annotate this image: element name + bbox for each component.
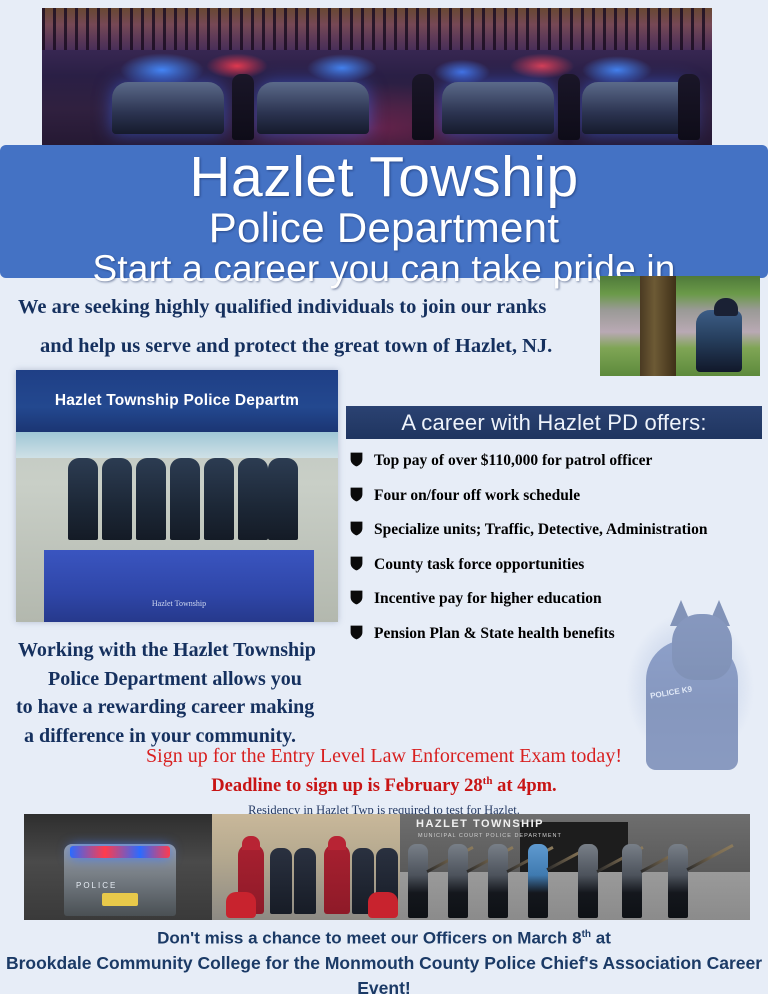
footer-line-2: Brookdale Community College for the Monm… [0,951,768,994]
deadline-text-before: Deadline to sign up is February 28 [211,776,482,796]
helmet-shape [714,298,738,316]
footer-line-1-after: at [591,929,611,948]
honor-guard-6 [622,844,642,918]
building-sign-text: HAZLET TOWNSHIP [416,818,544,830]
footer-event-details: Don't miss a chance to meet our Officers… [0,922,768,994]
treeline-decoration [42,8,712,50]
benefits-heading: A career with Hazlet PD offers: [401,410,706,436]
cruiser-photo-panel: POLICE [24,814,212,920]
honor-guard-7 [668,844,688,918]
officer-silhouette-4 [678,74,700,140]
santa-toy-drive-panel [212,814,400,920]
footer-line-1: Don't miss a chance to meet our Officers… [0,922,768,951]
table-banner-text: Hazlet Township [44,599,314,608]
page-subtitle: Police Department [0,207,768,249]
honor-guard-4 [528,844,548,918]
officer-figure-1 [270,848,292,914]
recruitment-flyer: Hazlet Towship Police Department Start a… [0,0,768,994]
benefits-header-bar: A career with Hazlet PD offers: [346,406,762,439]
toy-bag-1 [226,892,256,918]
tent-underside [16,432,338,458]
honor-guard-5 [578,844,598,918]
footer-line-1-before: Don't miss a chance to meet our Officers… [157,929,581,948]
honor-guard-panel: HAZLET TOWNSHIP MUNICIPAL COURT POLICE D… [400,814,750,920]
police-cruiser-3 [442,82,554,134]
deadline-text: Deadline to sign up is February 28th at … [0,769,768,798]
santa-hat-2 [328,836,346,850]
shield-icon [350,487,363,502]
list-item: Top pay of over $110,000 for patrol offi… [350,450,768,470]
k9-head [672,614,732,680]
community-tent-photo: Hazlet Township Police Departm Hazlet To… [16,370,338,622]
shield-icon [350,521,363,536]
officer-silhouette-2 [412,74,434,140]
intro-line-1: We are seeking highly qualified individu… [14,288,634,327]
tent-officers-row [68,458,298,540]
shield-icon [350,556,363,571]
honor-guard-2 [448,844,468,918]
list-item: Four on/four off work schedule [350,485,768,505]
footer-date-ordinal: th [582,929,591,940]
working-paragraph: Working with the Hazlet Township Police … [10,636,390,750]
top-banner-photo [42,8,712,148]
toy-bag-2 [368,892,398,918]
deadline-text-after: at 4pm. [492,776,556,796]
display-table: Hazlet Township [44,550,314,622]
honor-guard-1 [408,844,428,918]
benefit-text: Four on/four off work schedule [374,487,580,505]
santa-figure-2 [324,844,350,914]
emergency-lightbar [70,846,170,858]
intro-line-2: and help us serve and protect the great … [14,327,634,366]
intro-paragraph: We are seeking highly qualified individu… [14,288,634,366]
officer-figure-2 [294,848,316,914]
page-title: Hazlet Towship [0,147,768,207]
santa-hat-1 [242,836,260,850]
tactical-officer-photo [600,276,760,376]
exam-signup-text: Sign up for the Entry Level Law Enforcem… [0,744,768,768]
benefit-text: Pension Plan & State health benefits [374,625,615,643]
title-banner: Hazlet Towship Police Department Start a… [0,145,768,278]
bottom-photo-strip: POLICE HAZLET TOWNSHIP MUNICIPAL COURT P… [24,814,750,920]
working-line-1: Working with the Hazlet Township [10,636,390,665]
building-sign-subtext: MUNICIPAL COURT POLICE DEPARTMENT [418,833,562,839]
benefit-text: Specialize units; Traffic, Detective, Ad… [374,521,708,539]
tree-trunk [640,276,676,376]
honor-guard-3 [488,844,508,918]
benefit-text: Incentive pay for higher education [374,590,602,608]
list-item: County task force opportunities [350,554,768,574]
deadline-ordinal: th [483,775,493,787]
police-decal-text: POLICE [76,881,117,890]
tactical-officer-figure [696,310,742,372]
working-line-3: to have a rewarding career making [10,693,390,722]
call-to-action: Sign up for the Entry Level Law Enforcem… [0,744,768,819]
officer-silhouette-3 [558,74,580,140]
list-item: Specialize units; Traffic, Detective, Ad… [350,519,768,539]
shield-icon [350,452,363,467]
benefit-text: County task force opportunities [374,556,584,574]
tent-canopy-text: Hazlet Township Police Departm [16,392,338,410]
working-line-2: Police Department allows you [10,665,390,694]
police-cruiser-2 [257,82,369,134]
license-plate [102,893,138,906]
shield-icon [350,590,363,605]
police-cruiser-1 [112,82,224,134]
benefit-text: Top pay of over $110,000 for patrol offi… [374,452,652,470]
officer-silhouette-1 [232,74,254,140]
